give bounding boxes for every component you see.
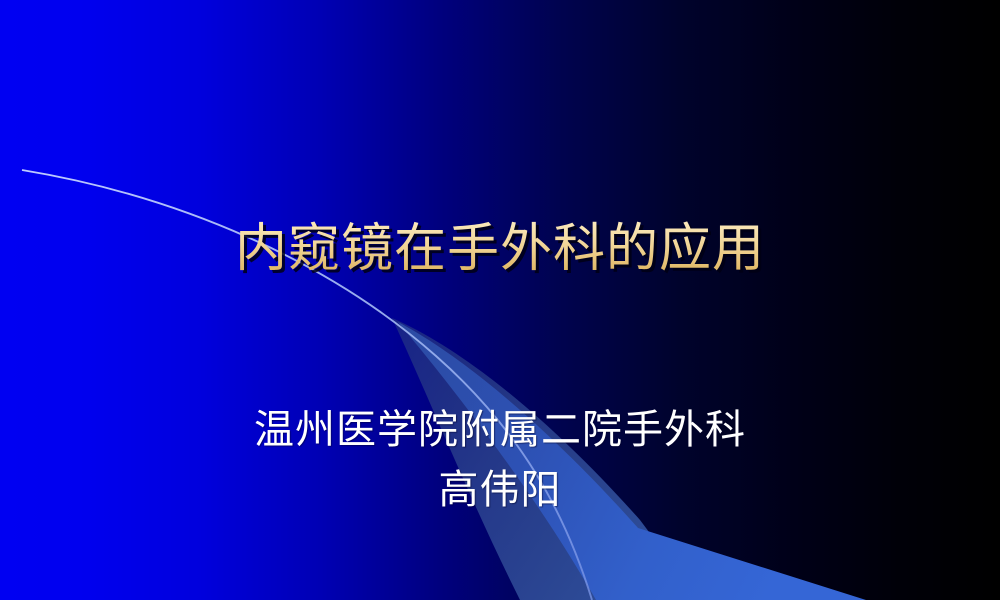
page-title: 内窥镜在手外科的应用 xyxy=(235,216,765,282)
subtitle-line-organization: 温州医学院附属二院手外科 xyxy=(0,400,1000,460)
title-slide: 内窥镜在手外科的应用 温州医学院附属二院手外科 高伟阳 xyxy=(0,0,1000,600)
subtitle-placeholder: 温州医学院附属二院手外科 高伟阳 xyxy=(0,400,1000,520)
title-placeholder: 内窥镜在手外科的应用 xyxy=(0,216,1000,282)
subtitle-line-author: 高伟阳 xyxy=(0,460,1000,520)
